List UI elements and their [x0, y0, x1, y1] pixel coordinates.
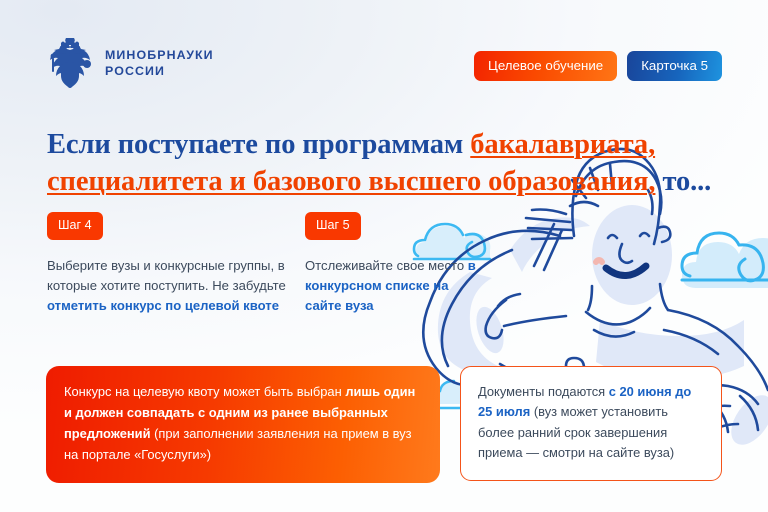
callout-deadlines: Документы подаются с 20 июня до 25 июля … — [460, 366, 722, 481]
step-badge-5: Шаг 5 — [305, 212, 361, 240]
russian-coat-of-arms-emblem — [48, 38, 92, 88]
step-column-4: Шаг 4 Выберите вузы и конкурсные группы,… — [47, 212, 297, 316]
step-badge-4: Шаг 4 — [47, 212, 103, 240]
page-title-part1: Если поступаете по программам — [47, 129, 470, 160]
badge-card-number[interactable]: Карточка 5 — [627, 51, 722, 81]
header: МИНОБРНАУКИ РОССИИ Целевое обучение Карт… — [0, 0, 768, 100]
step-text-4-normal: Выберите вузы и конкурсные группы, в кот… — [47, 258, 286, 293]
header-badges: Целевое обучение Карточка 5 — [474, 51, 722, 81]
step-text-4: Выберите вузы и конкурсные группы, в кот… — [47, 256, 297, 316]
infographic-card: МИНОБРНАУКИ РОССИИ Целевое обучение Карт… — [0, 0, 768, 512]
step-text-5-normal: Отслеживайте свое место — [305, 258, 468, 273]
callout-quota-normal1: Конкурс на целевую квоту может быть выбр… — [64, 384, 345, 399]
step-text-5: Отслеживайте свое место в конкурсном спи… — [305, 256, 485, 316]
ministry-logo-text: МИНОБРНАУКИ РОССИИ — [105, 47, 214, 80]
page-title: Если поступаете по программам бакалавриа… — [47, 126, 737, 201]
ministry-logo: МИНОБРНАУКИ РОССИИ — [48, 38, 214, 88]
badge-targeted-education[interactable]: Целевое обучение — [474, 51, 617, 81]
step-column-5: Шаг 5 Отслеживайте свое место в конкурсн… — [305, 212, 485, 316]
callout-deadlines-normal1: Документы подаются — [478, 384, 609, 399]
callout-quota-rule: Конкурс на целевую квоту может быть выбр… — [46, 366, 440, 483]
page-title-part2: то... — [655, 166, 711, 197]
step-text-4-bold: отметить конкурс по целевой квоте — [47, 298, 279, 313]
cloud-right — [682, 233, 768, 288]
